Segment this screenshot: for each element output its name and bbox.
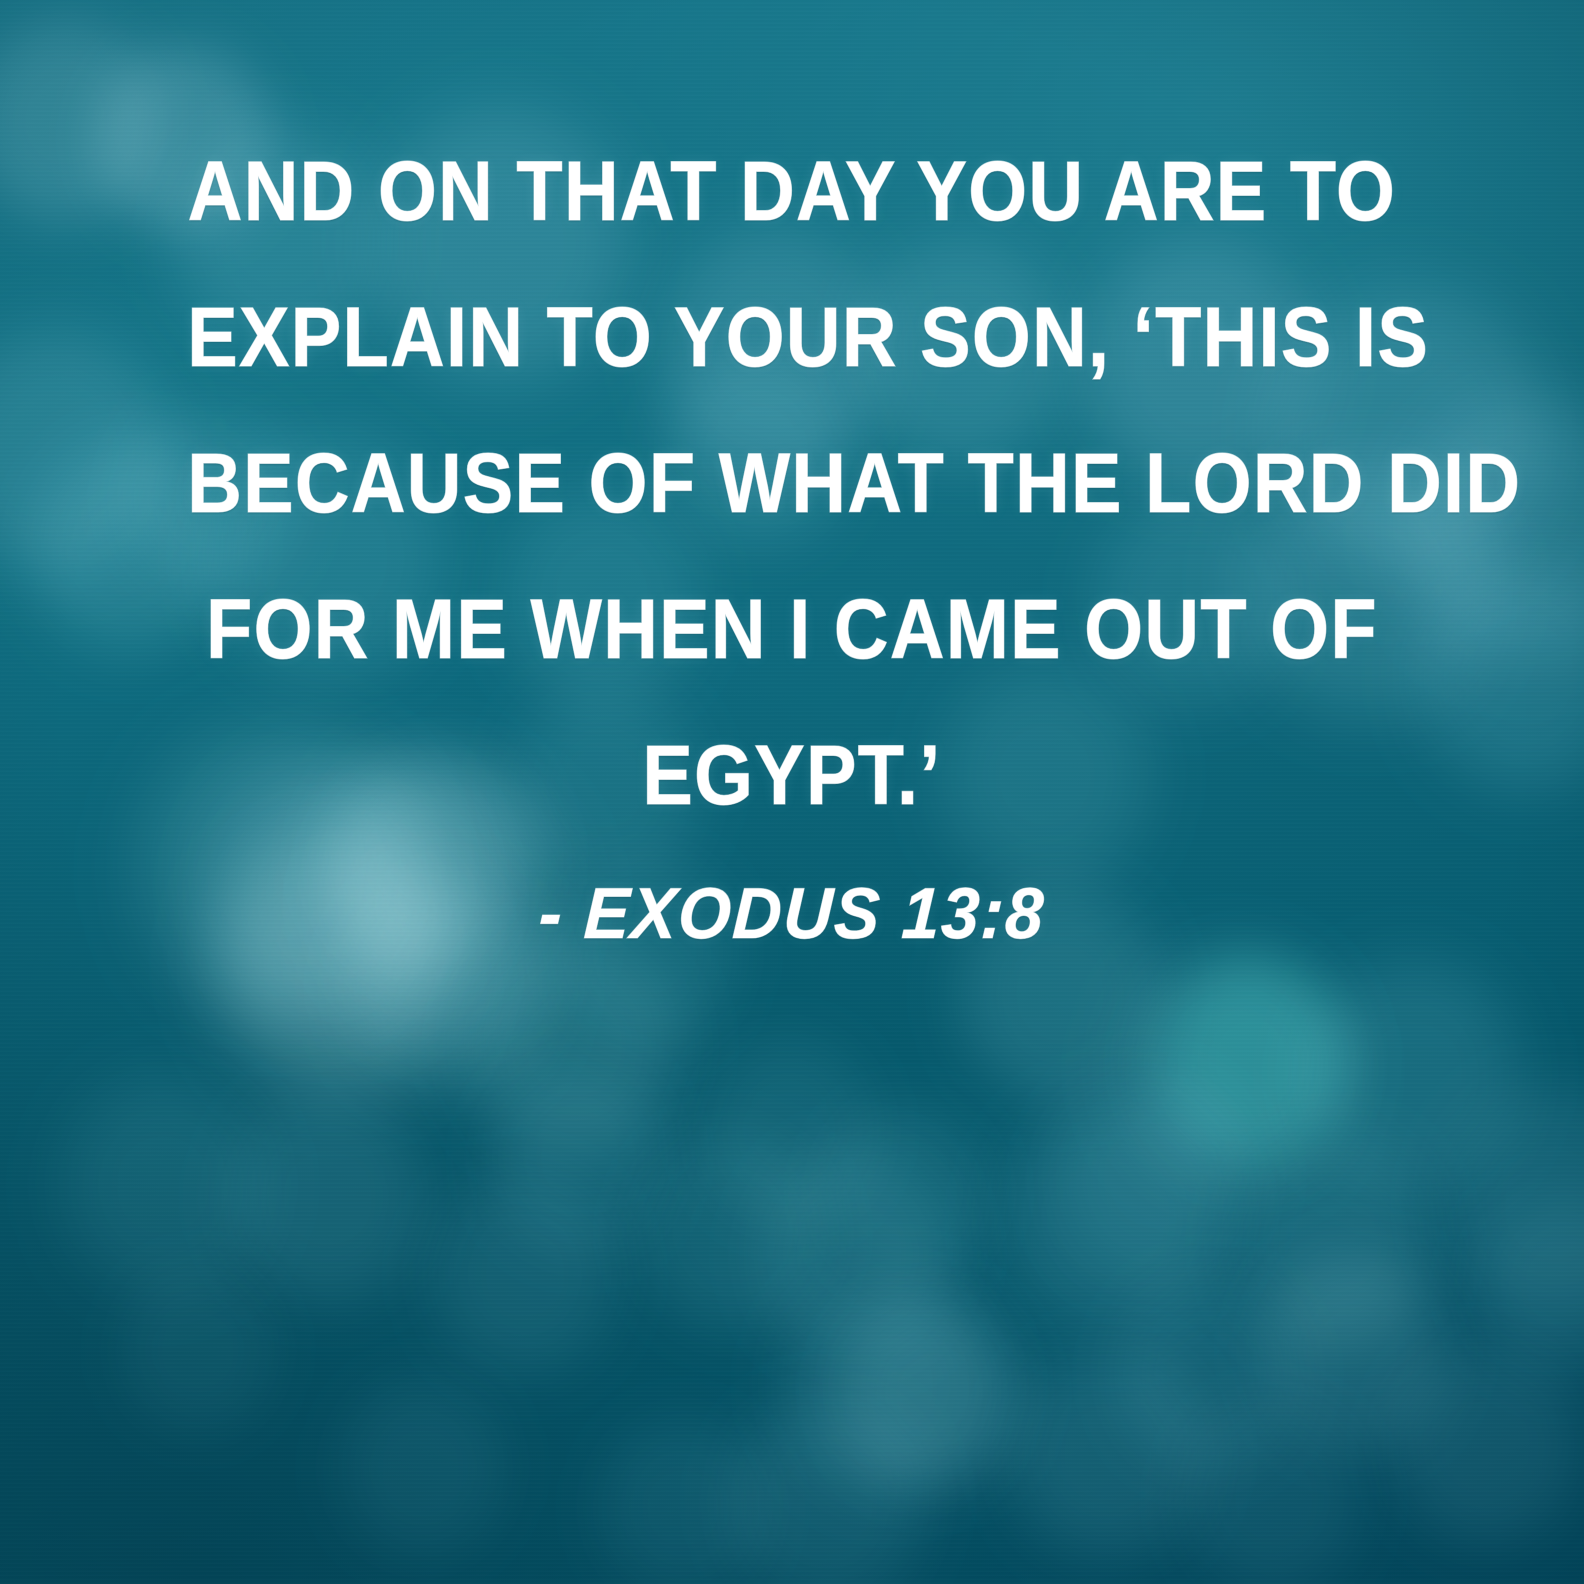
bokeh-circle — [600, 1420, 766, 1584]
bokeh-circle — [1010, 1350, 1206, 1558]
bokeh-circle — [340, 1380, 506, 1556]
verse-line-1: And on that day you are to — [187, 118, 1397, 264]
verse-line-5: Egypt.’ — [187, 702, 1397, 848]
verse-line-3: because of what the LORD did — [187, 410, 1397, 556]
bokeh-circle — [1186, 1406, 1362, 1584]
verse-line-2: explain to your son, ‘this is — [187, 264, 1397, 410]
bokeh-circle — [230, 1094, 426, 1302]
verse-attribution: - Exodus 13:8 — [0, 876, 1584, 952]
verse-image-canvas: And on that day you are to explain to yo… — [0, 0, 1584, 1584]
verse-line-4: for me when I came out of — [187, 556, 1397, 702]
bokeh-circle — [1056, 1072, 1256, 1284]
verse-text-block: And on that day you are to explain to yo… — [0, 118, 1584, 848]
bokeh-circle — [120, 1268, 276, 1433]
verse-reference-label: - Exodus 13:8 — [537, 876, 1047, 952]
bokeh-circle — [826, 1104, 992, 1280]
